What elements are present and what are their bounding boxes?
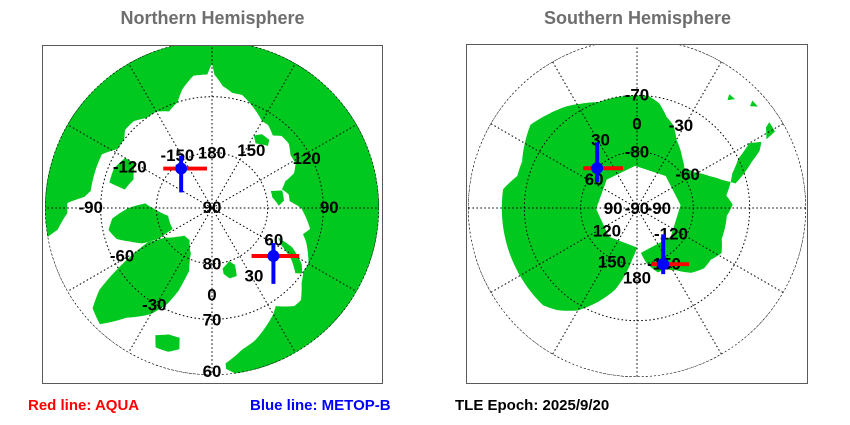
svg-text:-90: -90 (647, 199, 671, 218)
svg-text:90: 90 (320, 198, 339, 217)
legend-footer: Red line: AQUA Blue line: METOP-B TLE Ep… (0, 390, 850, 425)
polar-map-page: Northern Hemisphere 90807060030609012015… (0, 0, 850, 425)
svg-text:150: 150 (237, 141, 265, 160)
svg-text:80: 80 (203, 255, 222, 274)
svg-text:0: 0 (632, 115, 641, 134)
svg-text:-120: -120 (654, 224, 688, 243)
svg-text:-60: -60 (110, 246, 134, 265)
southern-hemisphere-title: Southern Hemisphere (425, 8, 850, 29)
northern-hemisphere-title: Northern Hemisphere (0, 8, 425, 29)
svg-text:30: 30 (245, 266, 264, 285)
svg-text:-120: -120 (113, 157, 147, 176)
svg-text:-80: -80 (625, 143, 649, 162)
svg-text:-30: -30 (669, 116, 693, 135)
legend-tle-epoch: TLE Epoch: 2025/9/20 (455, 397, 609, 414)
svg-text:-30: -30 (142, 295, 166, 314)
svg-text:-70: -70 (625, 85, 649, 104)
svg-text:-90: -90 (79, 198, 103, 217)
svg-text:-60: -60 (675, 165, 699, 184)
northern-hemisphere-svg: 908070600306090120150180-150-120-90-60-3… (43, 46, 382, 383)
svg-text:120: 120 (293, 149, 321, 168)
svg-text:180: 180 (198, 143, 226, 162)
northern-hemisphere-plot[interactable]: 908070600306090120150180-150-120-90-60-3… (42, 45, 383, 384)
svg-text:90: 90 (604, 199, 623, 218)
northern-hemisphere-panel: Northern Hemisphere 90807060030609012015… (0, 0, 425, 390)
legend-blue-line: Blue line: METOP-B (250, 397, 391, 414)
svg-text:0: 0 (207, 285, 216, 304)
svg-text:90: 90 (203, 198, 222, 217)
svg-text:70: 70 (203, 310, 222, 329)
svg-text:-150: -150 (161, 146, 195, 165)
svg-text:30: 30 (591, 131, 610, 150)
svg-text:-90: -90 (625, 199, 649, 218)
legend-red-line: Red line: AQUA (28, 397, 139, 414)
svg-text:60: 60 (203, 362, 222, 381)
svg-text:120: 120 (593, 222, 621, 241)
southern-hemisphere-svg: -90-80-70-600306090120150180-150-120-90-… (467, 45, 807, 383)
svg-text:150: 150 (598, 253, 626, 272)
southern-hemisphere-panel: Southern Hemisphere -90-80-70-6003060901… (425, 0, 850, 390)
southern-hemisphere-plot[interactable]: -90-80-70-600306090120150180-150-120-90-… (466, 44, 808, 384)
